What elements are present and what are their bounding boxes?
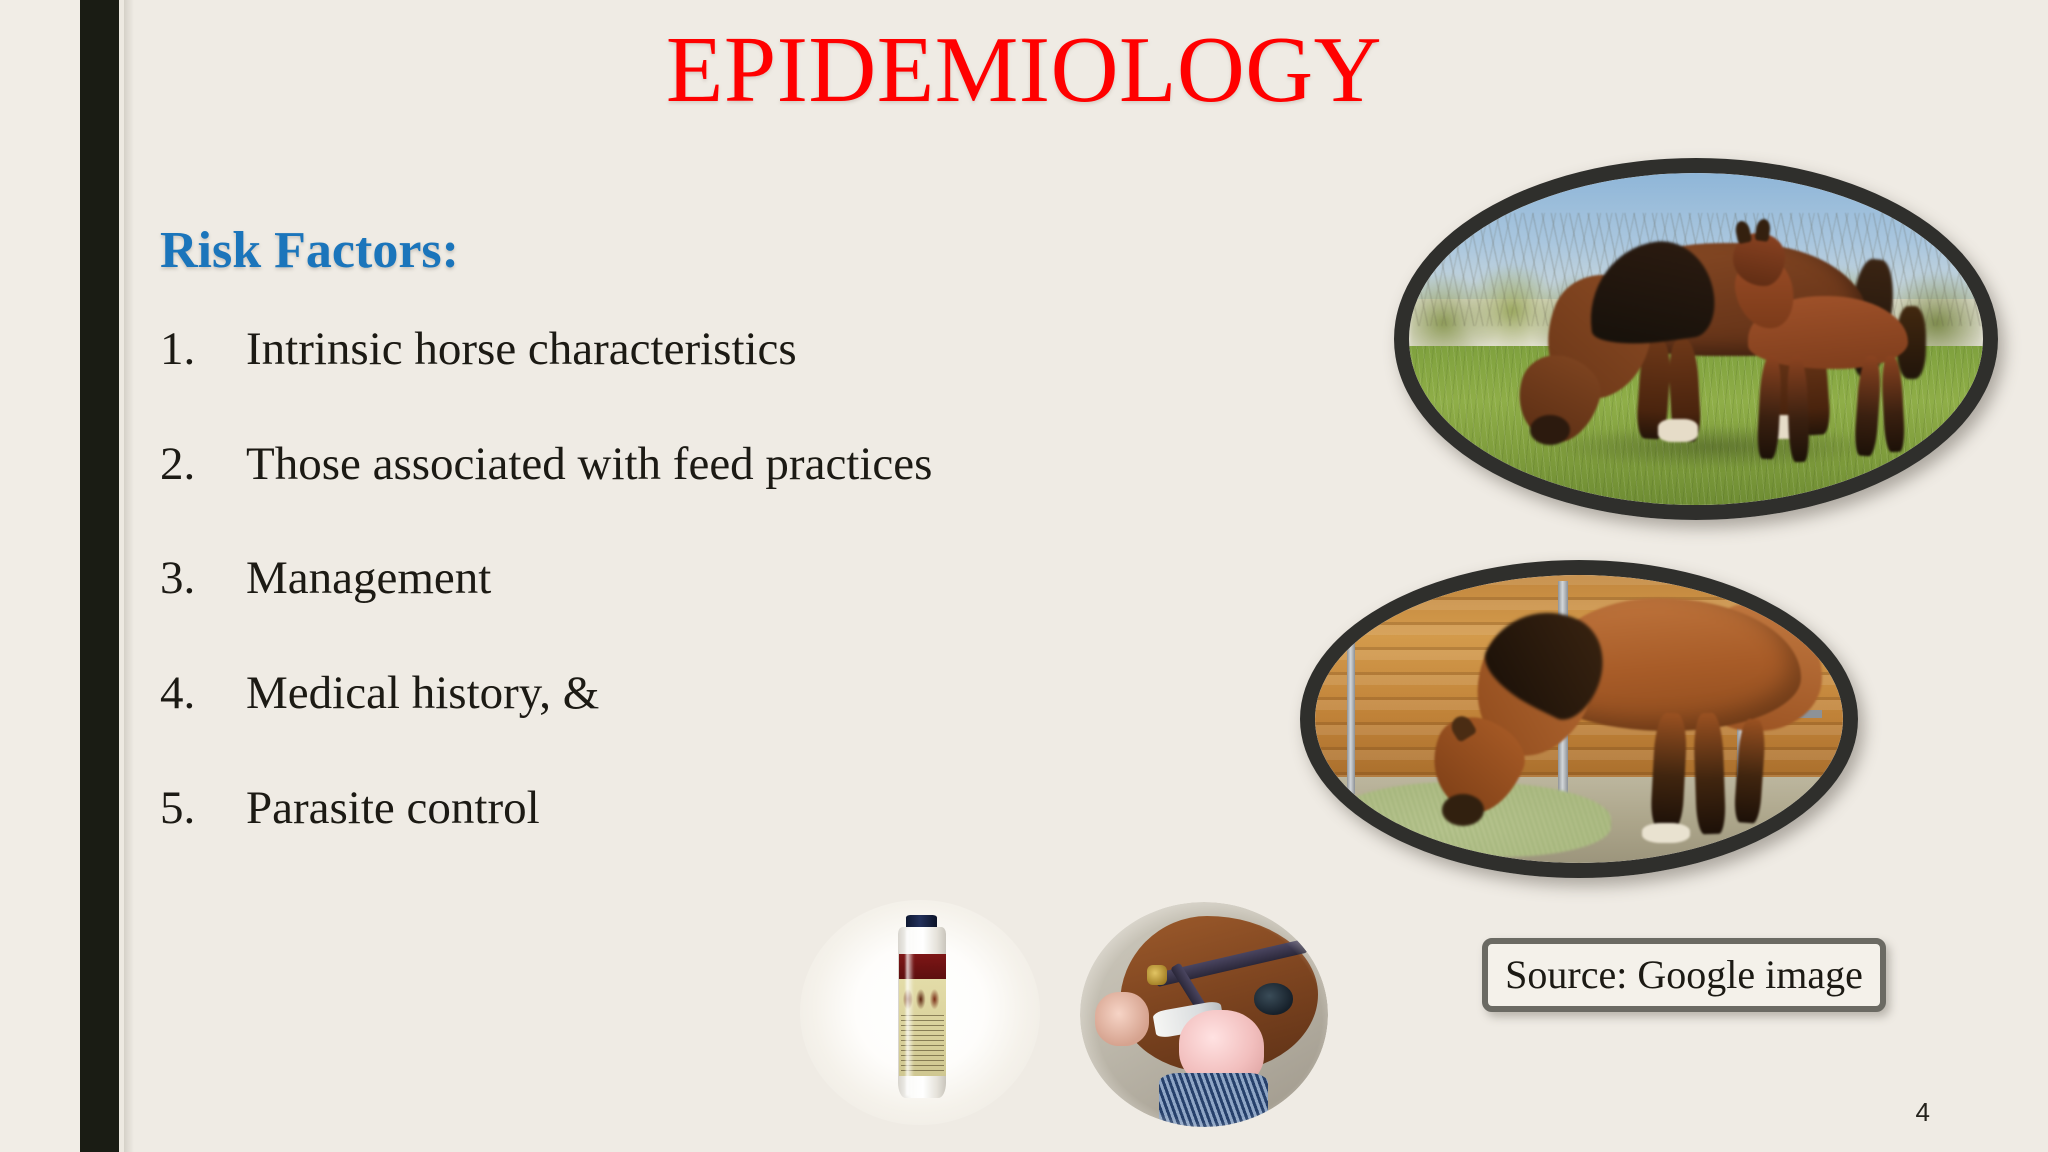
mare-foal-subjects [1409,173,1983,505]
left-accent-stripe [80,0,119,1152]
list-item-label: Those associated with feed practices [246,438,932,491]
mare-hoof [1658,419,1698,442]
horse-muzzle [1442,794,1484,826]
drenching-photo-content [1080,902,1328,1127]
oral-drenching-of-horse-image [1080,902,1328,1127]
presentation-slide: EPIDEMIOLOGY Risk Factors: 1. Intrinsic … [0,0,2048,1152]
page-number: 4 [1916,1097,1930,1128]
list-item-label: Management [246,552,491,605]
risk-factors-heading: Risk Factors: [160,222,1280,279]
horse-eye [1254,983,1294,1015]
left-stripe-shadow [124,0,134,1152]
halter-buckle [1147,965,1167,985]
mare-muzzle [1530,415,1570,445]
foal-leg [1756,355,1782,459]
risk-factors-list: 1. Intrinsic horse characteristics 2. Th… [160,323,1280,834]
handler-sleeve [1159,1073,1268,1127]
stable-horse-photo-content [1315,575,1843,863]
list-item-number: 4. [160,667,246,720]
list-item: 1. Intrinsic horse characteristics [160,323,1280,376]
list-item-label: Medical history, & [246,667,599,720]
foal-ear [1734,220,1752,244]
page-title: EPIDEMIOLOGY [0,20,2048,122]
source-caption-box: Source: Google image [1482,938,1886,1012]
list-item-number: 2. [160,438,246,491]
horse-leg [1734,718,1768,823]
handler-hand [1095,992,1150,1046]
stable-horse-subject [1315,575,1843,863]
horse-leg [1693,713,1726,835]
left-margin-band [0,0,80,1152]
list-item-number: 1. [160,323,246,376]
list-item: 5. Parasite control [160,782,1280,835]
list-item-label: Intrinsic horse characteristics [246,323,797,376]
horse-hoof [1642,823,1690,843]
list-item: 3. Management [160,552,1280,605]
list-item: 2. Those associated with feed practices [160,438,1280,491]
list-item: 4. Medical history, & [160,667,1280,720]
content-column: Risk Factors: 1. Intrinsic horse charact… [160,222,1280,834]
list-item-number: 3. [160,552,246,605]
mare-foal-photo-content [1409,173,1983,505]
source-caption-label: Source: Google image [1505,955,1863,995]
mare-and-foal-on-pasture-image [1394,158,1998,520]
bottle-highlight [906,929,914,1096]
list-item-label: Parasite control [246,782,540,835]
dewormer-bottle-image [800,900,1040,1125]
horse-eating-hay-in-stable-image [1300,560,1858,878]
list-item-number: 5. [160,782,246,835]
